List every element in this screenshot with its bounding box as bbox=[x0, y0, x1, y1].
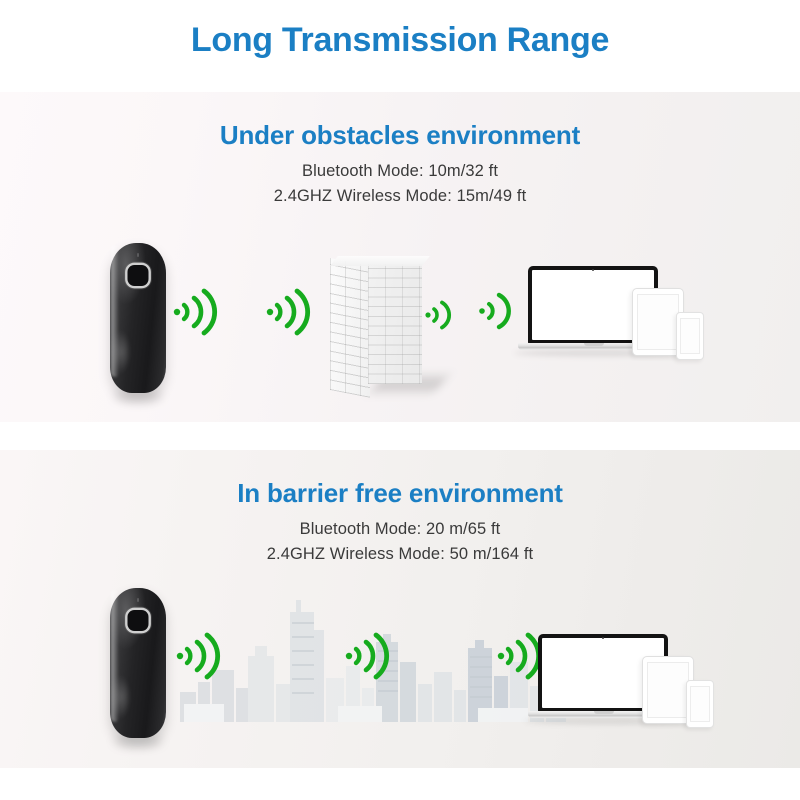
scanner-led-indicator-icon bbox=[137, 598, 139, 602]
laptop-trackpad-notch bbox=[594, 711, 614, 714]
brick-wall-side-face bbox=[330, 258, 370, 398]
wifi-signal-icon-5 bbox=[175, 632, 221, 680]
brick-wall-front-face bbox=[368, 264, 422, 384]
spec-bluetooth-mode-barrier-free: Bluetooth Mode: 20 m/65 ft bbox=[0, 520, 800, 539]
barcode-scanner-device-obstacles bbox=[110, 243, 166, 393]
wifi-signal-icon-1 bbox=[172, 288, 218, 336]
phone-icon bbox=[676, 312, 704, 360]
phone-display bbox=[690, 686, 710, 722]
receiver-devices-barrier-free bbox=[538, 626, 718, 734]
wifi-signal-icon-7 bbox=[496, 632, 542, 680]
laptop-trackpad-notch bbox=[584, 343, 604, 346]
spec-bluetooth-mode-obstacles: Bluetooth Mode: 10m/32 ft bbox=[0, 162, 800, 181]
page-title: Long Transmission Range bbox=[0, 22, 800, 59]
brick-wall-obstacle bbox=[330, 258, 422, 386]
scanner-body-highlight bbox=[109, 330, 129, 374]
barcode-scanner-device-barrier-free bbox=[110, 588, 166, 738]
spec-wireless-mode-obstacles: 2.4GHZ Wireless Mode: 15m/49 ft bbox=[0, 187, 800, 206]
wifi-signal-icon-4 bbox=[478, 290, 514, 332]
wifi-signal-icon-2 bbox=[265, 288, 311, 336]
scanner-trigger-button[interactable] bbox=[128, 610, 149, 631]
spec-wireless-mode-barrier-free: 2.4GHZ Wireless Mode: 50 m/164 ft bbox=[0, 545, 800, 564]
section-heading-under-obstacles: Under obstacles environment bbox=[0, 120, 800, 151]
phone-icon bbox=[686, 680, 714, 728]
scanner-led-indicator-icon bbox=[137, 253, 139, 257]
wifi-signal-icon-6 bbox=[344, 632, 390, 680]
scanner-trigger-button[interactable] bbox=[128, 265, 149, 286]
tablet-display bbox=[637, 294, 679, 350]
laptop-camera-icon bbox=[592, 269, 594, 271]
laptop-camera-icon bbox=[602, 637, 604, 639]
tablet-display bbox=[647, 662, 689, 718]
phone-display bbox=[680, 318, 700, 354]
scanner-body-highlight bbox=[109, 675, 129, 719]
receiver-devices-obstacles bbox=[528, 258, 708, 366]
wifi-signal-icon-3 bbox=[424, 298, 454, 332]
section-heading-barrier-free: In barrier free environment bbox=[0, 478, 800, 509]
brick-wall-top-edge bbox=[330, 256, 430, 266]
